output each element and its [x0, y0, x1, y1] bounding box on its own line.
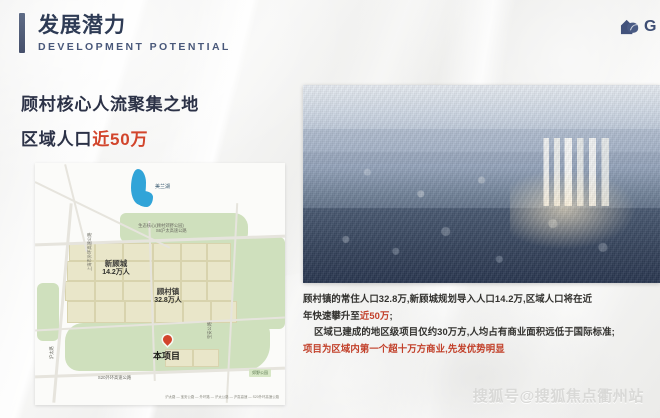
map-parcel [65, 281, 95, 301]
copy-paragraph-4: 项目为区域内第一个超十万方商业,先发优势明显 [303, 341, 653, 358]
slide-root: 发展潜力 DEVELOPMENT POTENTIAL G 顾村核心人流聚集之地 … [0, 0, 660, 418]
map-green-strip-east [231, 237, 285, 329]
map-lake-label: 美兰湖 [155, 183, 170, 190]
page-title: 发展潜力 [38, 13, 231, 38]
map-parcel [153, 261, 181, 281]
brand-wordmark: G [644, 18, 660, 36]
map-parcel [95, 301, 125, 323]
lead-line-1: 顾村核心人流聚集之地 [21, 93, 199, 117]
map-parcel [95, 281, 123, 301]
map-parcel [207, 243, 231, 261]
map-town-name: 顾村镇 [137, 287, 199, 296]
map-parcel [207, 281, 233, 301]
copy-p2-prefix: 年快速攀升至 [303, 310, 360, 321]
map-road-label: 沪太路 [49, 346, 55, 359]
header-text-group: 发展潜力 DEVELOPMENT POTENTIAL [38, 13, 231, 54]
map-legend: 沪太路 — 宝安公路 — 外环路 — 沪太公路 — 沪嘉高速 — S20外环高速… [159, 395, 279, 399]
map-lake-lobe [136, 191, 153, 207]
map-road-label: S6沪太高速公路 [156, 228, 187, 234]
map-parcel [207, 261, 231, 281]
copy-p2-suffix: ; [389, 310, 392, 321]
lead-line-2-prefix: 区域人口 [21, 130, 92, 149]
body-copy: 顾村镇的常住人口32.8万,新顾城规划导入人口14.2万,区域人口将在近 年快速… [303, 291, 653, 357]
region-population-map[interactable]: 美兰湖 生态核心(顾村郊野公园) S6沪太高速公路 上海市外环高速公路 沪太路 … [35, 163, 285, 405]
map-parcel [181, 243, 207, 261]
lead-headline: 顾村核心人流聚集之地 区域人口近50万 [21, 93, 199, 152]
map-town-name: 新顾城 [87, 259, 145, 268]
map-project-label: 本项目 [153, 349, 180, 362]
house-leaf-logo-icon [619, 17, 640, 36]
copy-paragraph-1: 顾村镇的常住人口32.8万,新顾城规划导入人口14.2万,区域人口将在近 [303, 291, 653, 308]
page-subtitle: DEVELOPMENT POTENTIAL [38, 40, 231, 54]
copy-p2-highlight: 近50万 [360, 310, 390, 321]
copy-p1-text: 顾村镇的常住人口32.8万,新顾城规划导入人口14.2万,区域人口将在近 [303, 293, 592, 304]
map-canvas: 美兰湖 生态核心(顾村郊野公园) S6沪太高速公路 上海市外环高速公路 沪太路 … [35, 163, 285, 405]
header-accent-bar [19, 13, 25, 53]
lead-line-2-highlight: 近50万 [92, 130, 148, 149]
map-parcel [193, 349, 219, 367]
copy-paragraph-2: 年快速攀升至近50万; [303, 308, 653, 325]
aerial-city-rendering [303, 85, 660, 283]
lead-line-2: 区域人口近50万 [21, 128, 199, 152]
map-legend-chip: 郊野公园 [249, 369, 271, 377]
copy-paragraph-3: 区域已建成的地区级项目仅约30万方,人均占有商业面积远低于国际标准; [303, 324, 653, 341]
map-town-gucunzhen: 顾村镇 32.8万人 [137, 287, 199, 305]
map-green-patch-west [37, 283, 59, 341]
photo-texture [303, 85, 660, 283]
brand-logo: G [619, 17, 660, 36]
watermark: 搜狐号@搜狐焦点衢州站 [473, 385, 644, 406]
map-town-population: 14.2万人 [87, 268, 145, 277]
map-road-label: 宝安公路 [207, 322, 213, 339]
map-road-label: S20外环高速公路 [98, 375, 131, 381]
map-parcel [67, 301, 95, 323]
slide-header: 发展潜力 DEVELOPMENT POTENTIAL [19, 13, 231, 54]
map-town-population: 32.8万人 [137, 296, 199, 305]
map-parcel [181, 261, 207, 281]
map-town-xingucheng: 新顾城 14.2万人 [87, 259, 145, 277]
